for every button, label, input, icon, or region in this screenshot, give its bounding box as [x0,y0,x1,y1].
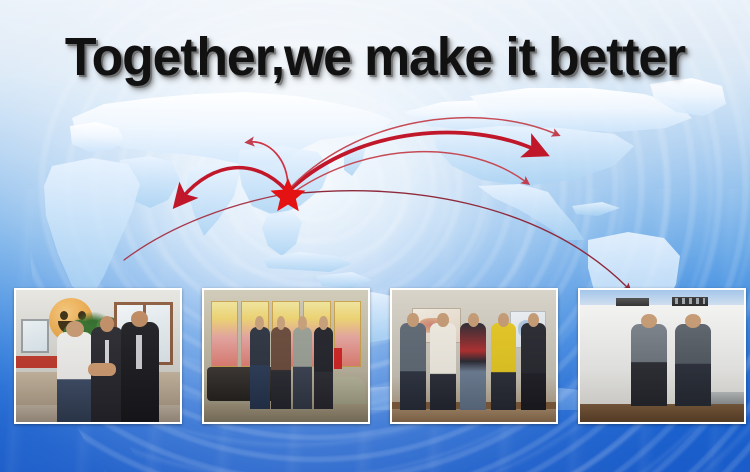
handshake-icon [88,363,116,376]
photo-group-of-five-maps[interactable] [390,288,558,424]
ceiling-strip [580,290,744,305]
two-men [629,324,714,406]
group-of-four [250,327,335,409]
page-title: Together,we make it better [15,26,735,88]
room-floor [392,409,556,422]
person-right [121,322,159,422]
group-of-five [399,323,550,410]
workshop-floor [580,404,744,422]
photo-two-men-workshop[interactable] [578,288,746,424]
photo-group-of-four-wallcharts[interactable] [202,288,370,424]
photo-strip [0,288,750,428]
photo-handshake-meeting[interactable] [14,288,182,424]
person-left [57,332,93,422]
wall-vent-left [616,298,649,306]
company-banner: Together,we make it better [0,0,750,472]
wall-vent-right [672,297,708,306]
side-window [21,319,49,353]
